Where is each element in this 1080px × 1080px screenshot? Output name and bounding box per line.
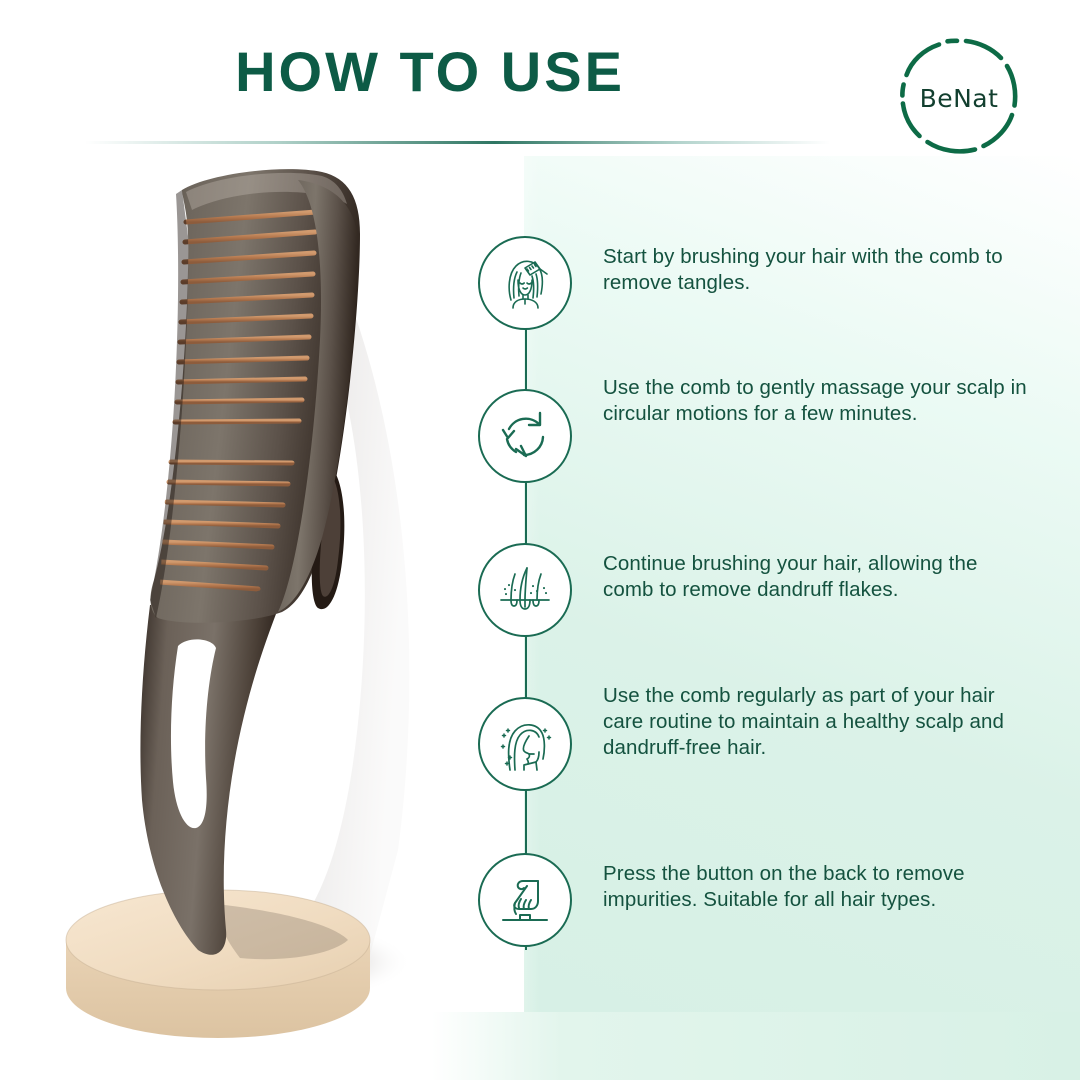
- product-image: [30, 150, 450, 1050]
- step-item-4: Use the comb regularly as part of your h…: [470, 697, 1030, 797]
- step-item-1: Start by brushing your hair with the com…: [470, 236, 1030, 336]
- step-5-text: Press the button on the back to remove i…: [603, 861, 1028, 913]
- logo-text: BeNat: [893, 32, 1025, 164]
- page-title: HOW TO USE: [0, 44, 860, 100]
- poster-canvas: HOW TO USE BeNat: [0, 0, 1080, 1080]
- step-5-icon-circle: [478, 853, 572, 947]
- step-item-2: Use the comb to gently massage your scal…: [470, 389, 1030, 489]
- woman-combing-hair-icon: [494, 252, 556, 314]
- step-item-3: Continue brushing your hair, allowing th…: [470, 543, 1030, 643]
- steps-list: Start by brushing your hair with the com…: [470, 236, 1030, 966]
- step-4-text: Use the comb regularly as part of your h…: [603, 683, 1028, 762]
- step-item-5: Press the button on the back to remove i…: [470, 853, 1030, 953]
- step-3-icon-circle: [478, 543, 572, 637]
- head-profile-sparkle-icon: [493, 712, 557, 776]
- step-2-icon-circle: [478, 389, 572, 483]
- step-1-text: Start by brushing your hair with the com…: [603, 244, 1028, 296]
- step-2-text: Use the comb to gently massage your scal…: [603, 375, 1028, 427]
- header-divider: [85, 141, 830, 144]
- brand-logo: BeNat: [893, 32, 1025, 164]
- step-4-icon-circle: [478, 697, 572, 791]
- circular-arrows-icon: [494, 405, 556, 467]
- hair-follicle-dandruff-icon: [493, 558, 557, 622]
- step-3-text: Continue brushing your hair, allowing th…: [603, 551, 1028, 603]
- hand-pressing-button-icon: [494, 869, 556, 931]
- step-1-icon-circle: [478, 236, 572, 330]
